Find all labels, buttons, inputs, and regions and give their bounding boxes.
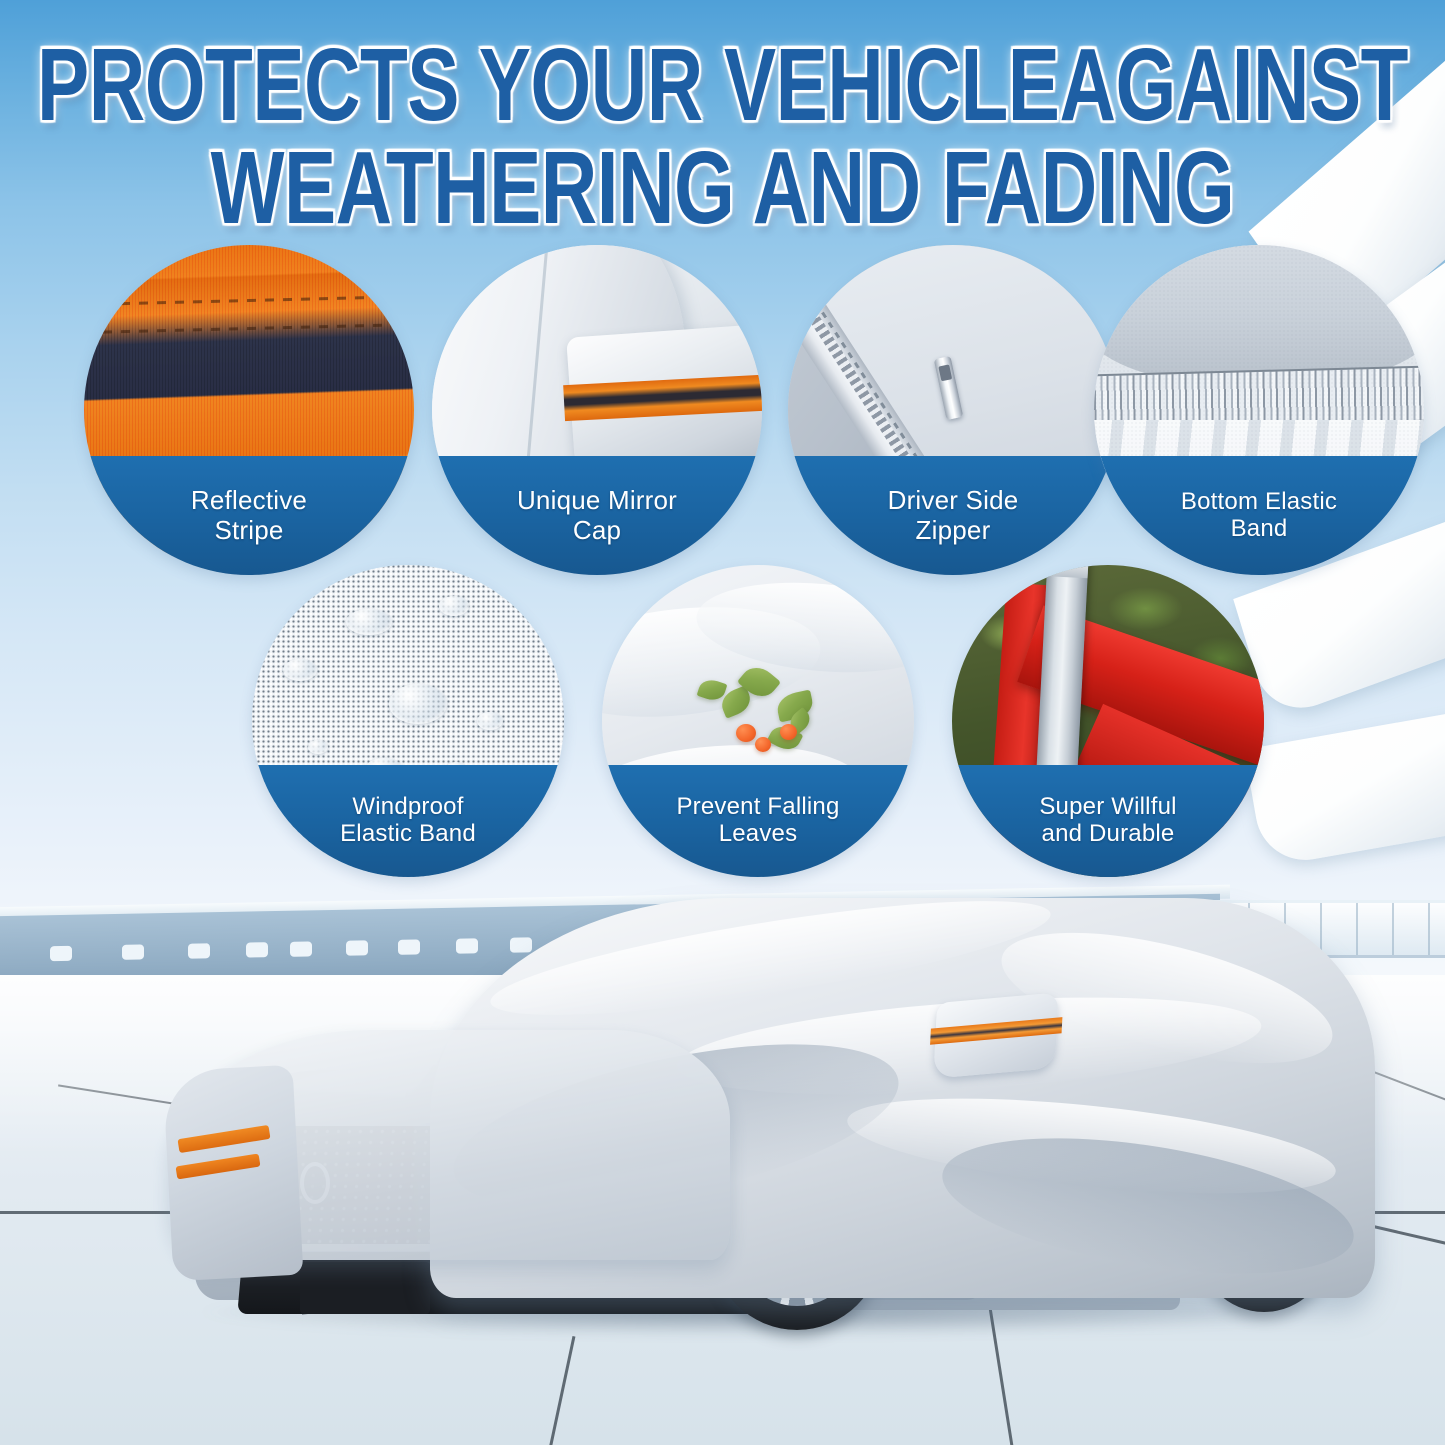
feature-label-cap-prevent-falling-leaves: Prevent Falling Leaves xyxy=(602,765,914,877)
feature-label-line1: Bottom Elastic xyxy=(1181,488,1337,515)
feature-circle-driver-side-zipper[interactable]: Driver Side Zipper xyxy=(788,245,1118,575)
feature-circle-unique-mirror-cap[interactable]: Unique Mirror Cap xyxy=(432,245,762,575)
headline-line-2: WEATHERING AND FADING xyxy=(7,137,1438,238)
feature-label-line1: Super Willful xyxy=(1039,793,1176,820)
feature-label-line2: Zipper xyxy=(916,515,991,545)
feature-label-cap-windproof-elastic-band: Windproof Elastic Band xyxy=(252,765,564,877)
feature-label-cap-reflective-stripe: Reflective Stripe xyxy=(84,456,414,575)
feature-label-line1: Prevent Falling xyxy=(676,793,839,820)
feature-label-line1: Reflective xyxy=(191,485,307,515)
feature-circle-windproof-elastic-band[interactable]: Windproof Elastic Band xyxy=(252,565,564,877)
feature-label-cap-unique-mirror-cap: Unique Mirror Cap xyxy=(432,456,762,575)
feature-label-cap-super-willful-and-durable: Super Willful and Durable xyxy=(952,765,1264,877)
headline-line-1: PROTECTS YOUR VEHICLEAGAINST xyxy=(7,34,1438,135)
feature-label-line2: Stripe xyxy=(214,515,283,545)
feature-label-line2: Band xyxy=(1231,515,1288,542)
feature-circle-reflective-stripe[interactable]: Reflective Stripe xyxy=(84,245,414,575)
feature-label-line1: Windproof xyxy=(352,793,463,820)
mirror-pocket xyxy=(933,992,1058,1078)
feature-circle-super-willful-and-durable[interactable]: Super Willful and Durable xyxy=(952,565,1264,877)
infographic-page: PROTECTS YOUR VEHICLEAGAINST WEATHERING … xyxy=(0,0,1445,1445)
feature-label-line2: and Durable xyxy=(1042,820,1175,847)
feature-label-cap-driver-side-zipper: Driver Side Zipper xyxy=(788,456,1118,575)
hero-covered-car xyxy=(0,880,1445,1445)
license-plate-recess xyxy=(300,1262,430,1314)
page-title: PROTECTS YOUR VEHICLEAGAINST WEATHERING … xyxy=(0,34,1445,215)
feature-circle-prevent-falling-leaves[interactable]: Prevent Falling Leaves xyxy=(602,565,914,877)
feature-label-line2: Elastic Band xyxy=(340,820,476,847)
mirror-reflective-stripe xyxy=(930,1017,1062,1045)
feature-label-line1: Unique Mirror xyxy=(517,485,677,515)
feature-label-line1: Driver Side xyxy=(888,485,1019,515)
architecture-slab-4 xyxy=(1244,692,1445,867)
feature-label-line2: Cap xyxy=(573,515,621,545)
feature-label-cap-bottom-elastic-band: Bottom Elastic Band xyxy=(1094,456,1424,575)
feature-label-line2: Leaves xyxy=(719,820,798,847)
feature-circle-bottom-elastic-band[interactable]: Bottom Elastic Band xyxy=(1094,245,1424,575)
